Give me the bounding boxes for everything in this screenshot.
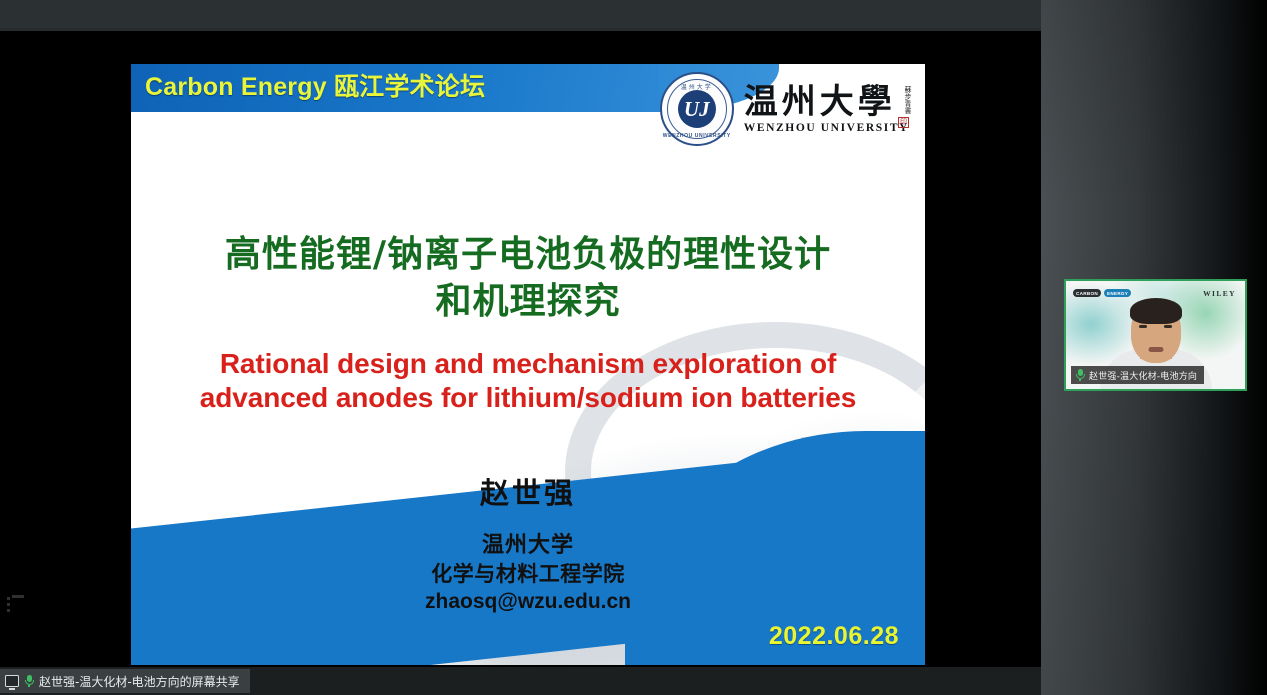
participant-eye-left — [1139, 325, 1147, 328]
monitor-icon — [5, 675, 19, 687]
presentation-slide: Carbon Energy 瓯江学术论坛 温州大学 UJ WENZHOU UNI… — [131, 64, 925, 665]
carbon-energy-logo-word2: ENERGY — [1104, 289, 1131, 297]
participant-eye-right — [1164, 325, 1172, 328]
carbon-energy-logo-word1: CARBON — [1073, 289, 1101, 297]
wiley-logo: WILEY — [1203, 289, 1236, 298]
participant-name-label: 赵世强-温大化材-电池方向 — [1071, 366, 1204, 384]
participant-hair — [1130, 298, 1182, 324]
speaker-email: zhaosq@wzu.edu.cn — [131, 588, 925, 615]
top-chrome-bar — [0, 0, 1041, 31]
participant-video-tile[interactable]: CARBON ENERGY WILEY 赵世强-温大化材-电池方向 — [1064, 279, 1247, 391]
screen-share-stage: Carbon Energy 瓯江学术论坛 温州大学 UJ WENZHOU UNI… — [0, 31, 1041, 667]
slide-content: 高性能锂/钠离子电池负极的理性设计 和机理探究 Rational design … — [131, 64, 925, 665]
slide-title-cn-line1: 高性能锂/钠离子电池负极的理性设计 — [131, 232, 925, 279]
participant-name-text: 赵世强-温大化材-电池方向 — [1089, 369, 1197, 382]
taskbar: 赵世强-温大化材-电池方向的屏幕共享 — [0, 667, 1041, 695]
taskbar-screen-share-label: 赵世强-温大化材-电池方向的屏幕共享 — [39, 673, 240, 690]
slide-title-en-line2: advanced anodes for lithium/sodium ion b… — [157, 381, 899, 415]
affiliation-college: 化学与材料工程学院 — [131, 561, 925, 588]
participant-panel: CARBON ENERGY WILEY 赵世强-温大化材-电池方向 — [1041, 0, 1267, 695]
speaker-name: 赵世强 — [131, 470, 925, 512]
microphone-icon[interactable] — [1075, 369, 1085, 381]
speaker-affiliation: 温州大学 化学与材料工程学院 zhaosq@wzu.edu.cn — [131, 532, 925, 615]
taskbar-microphone-icon — [24, 675, 34, 687]
app-root: Carbon Energy 瓯江学术论坛 温州大学 UJ WENZHOU UNI… — [0, 0, 1267, 695]
slide-title-cn-line2: 和机理探究 — [131, 279, 925, 326]
list-menu-icon[interactable] — [7, 595, 25, 615]
slide-date: 2022.06.28 — [769, 622, 899, 651]
taskbar-screen-share-item[interactable]: 赵世强-温大化材-电池方向的屏幕共享 — [0, 669, 250, 693]
slide-title-en-line1: Rational design and mechanism exploratio… — [157, 347, 899, 381]
slide-title-cn: 高性能锂/钠离子电池负极的理性设计 和机理探究 — [131, 232, 925, 326]
carbon-energy-logo: CARBON ENERGY — [1073, 289, 1131, 297]
affiliation-university: 温州大学 — [131, 532, 925, 561]
slide-title-en: Rational design and mechanism exploratio… — [157, 347, 899, 415]
participant-mouth — [1148, 347, 1163, 352]
